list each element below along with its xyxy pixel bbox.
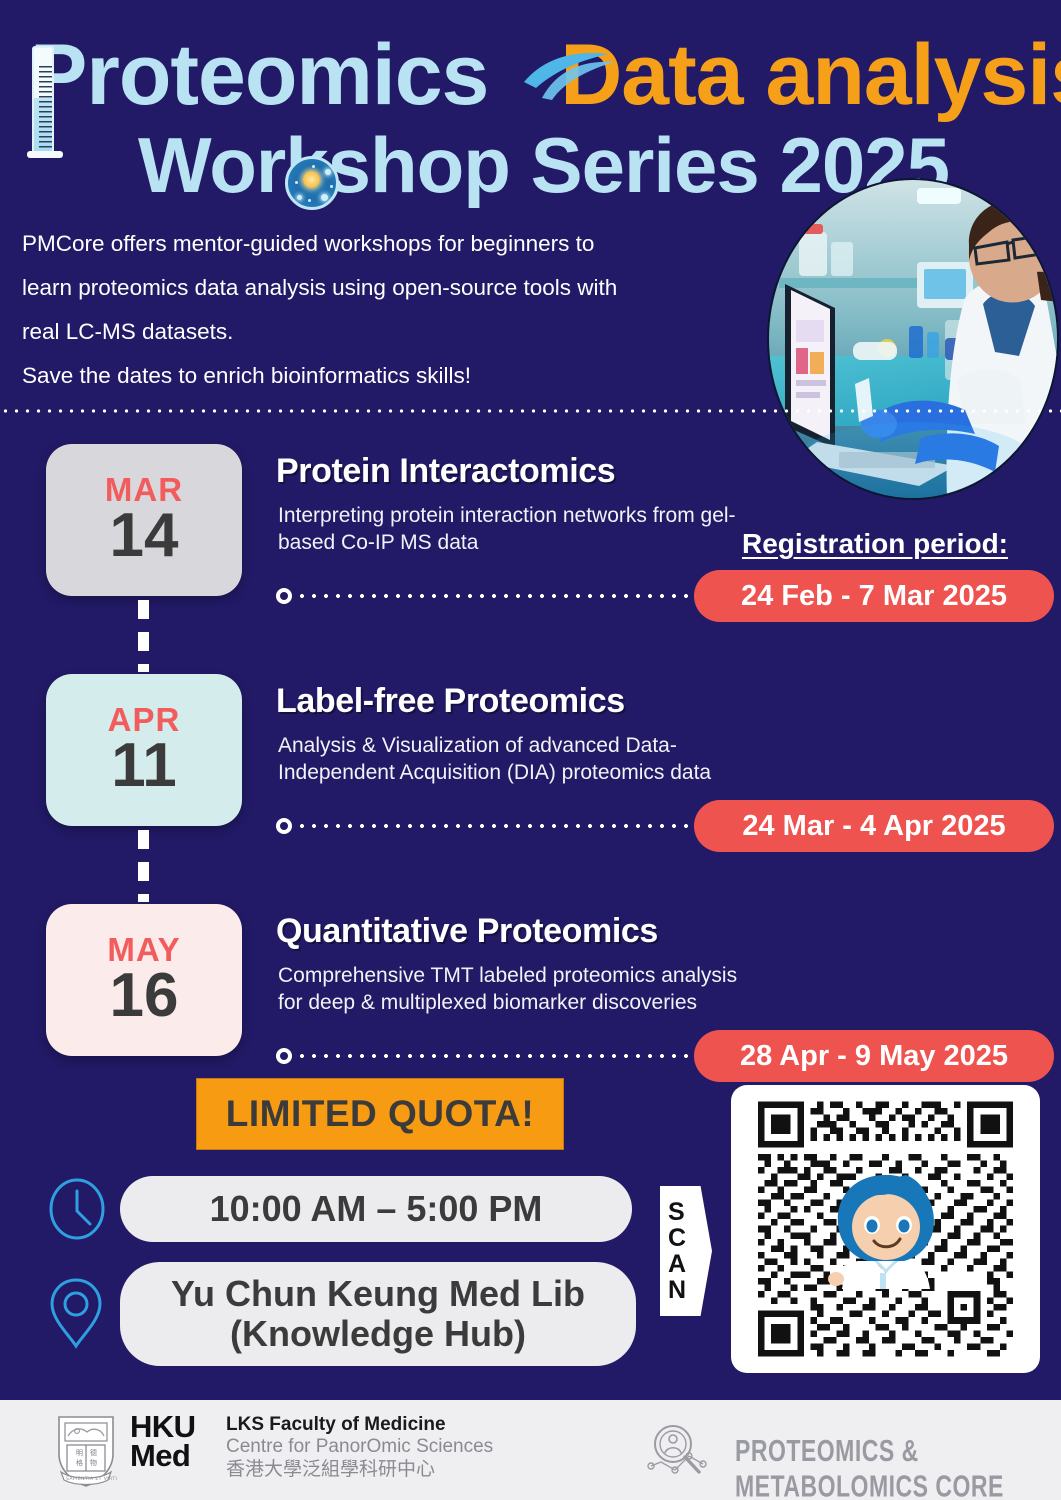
dotted-trail — [296, 823, 706, 829]
scan-arrow-label: S C A N — [660, 1186, 712, 1316]
workshop-time-pill: 10:00 AM – 5:00 PM — [120, 1176, 632, 1242]
venue-line-1: Yu Chun Keung Med Lib — [171, 1274, 585, 1314]
intro-line-2: learn proteomics data analysis using ope… — [22, 266, 764, 310]
title-proteomics-text: Proteomics — [30, 27, 488, 123]
date-card-day: 14 — [110, 505, 179, 567]
hku-med-line-2: Med — [130, 1441, 195, 1470]
svg-text:德: 德 — [90, 1448, 97, 1457]
svg-text:明: 明 — [76, 1449, 83, 1457]
scan-label-text: S C A N — [668, 1199, 690, 1304]
title-data-analysis-word: Data analysis — [560, 32, 1061, 118]
workshop-title: Label-free Proteomics — [276, 682, 625, 721]
nucleus-icon — [303, 171, 320, 188]
footer-bar: 明 德 格 物 SAPIENTIA ET VIRTUS HKU Med LKS … — [0, 1396, 1061, 1500]
registration-pill[interactable]: 24 Mar - 4 Apr 2025 — [694, 800, 1054, 852]
date-card-day: 16 — [110, 965, 179, 1027]
intro-paragraph: PMCore offers mentor-guided workshops fo… — [22, 222, 764, 398]
workshop-title: Quantitative Proteomics — [276, 912, 658, 951]
workshop-title: Protein Interactomics — [276, 452, 615, 491]
faculty-line-3: 香港大學泛組學科研中心 — [226, 1459, 493, 1481]
poster-title-block: Proteomics Data analysis Workshop Series… — [30, 8, 960, 213]
intro-line-3: real LC-MS datasets. — [22, 310, 764, 354]
timeline-node-icon — [276, 1048, 292, 1064]
registration-pill[interactable]: 28 Apr - 9 May 2025 — [694, 1030, 1054, 1082]
limited-quota-badge: LIMITED QUOTA! — [196, 1078, 564, 1150]
workshop-venue-pill: Yu Chun Keung Med Lib (Knowledge Hub) — [120, 1262, 636, 1366]
workshop-dotted-link — [276, 588, 706, 604]
title-proteomics-word: Proteomics — [30, 32, 488, 118]
svg-text:格: 格 — [76, 1458, 83, 1467]
venue-line-2: (Knowledge Hub) — [230, 1314, 526, 1354]
faculty-line-1: LKS Faculty of Medicine — [226, 1414, 493, 1436]
proteomics-core-name: PROTEOMICS & METABOLOMICS CORE — [735, 1434, 1048, 1500]
svg-text:SAPIENTIA ET VIRTUS: SAPIENTIA ET VIRTUS — [66, 1476, 117, 1482]
date-card-mar[interactable]: MAR 14 — [46, 444, 242, 596]
title-line-1: Proteomics Data analysis — [30, 32, 1061, 118]
date-card-day: 11 — [111, 735, 177, 797]
workshop-dotted-link — [276, 1048, 706, 1064]
faculty-line-2: Centre for PanorOmic Sciences — [226, 1436, 493, 1458]
title-line-2: Workshop Series 2025 — [138, 126, 949, 204]
dotted-trail — [296, 593, 706, 599]
title-workshop-series-text: Workshop Series 2025 — [138, 121, 949, 209]
hku-med-line-1: HKU — [130, 1412, 195, 1441]
qr-mascot-icon — [828, 1169, 944, 1289]
date-card-may[interactable]: MAY 16 — [46, 904, 242, 1056]
workshop-description: Comprehensive TMT labeled proteomics ana… — [278, 962, 748, 1016]
intro-line-1: PMCore offers mentor-guided workshops fo… — [22, 222, 764, 266]
timeline-node-icon — [276, 818, 292, 834]
hku-crest-icon: 明 德 格 物 SAPIENTIA ET VIRTUS — [55, 1414, 117, 1488]
section-divider — [0, 408, 1061, 414]
intro-line-4: Save the dates to enrich bioinformatics … — [22, 354, 764, 398]
poster-root: Proteomics Data analysis Workshop Series… — [0, 0, 1061, 1500]
dotted-trail — [296, 1053, 706, 1059]
date-card-apr[interactable]: APR 11 — [46, 674, 242, 826]
workshop-timeline: MAR 14 Protein Interactomics Interpretin… — [0, 430, 1061, 1120]
cylinder-ticks-icon — [39, 66, 52, 150]
cell-molecule-icon — [285, 156, 339, 210]
registration-pill[interactable]: 24 Feb - 7 Mar 2025 — [694, 570, 1054, 622]
workshop-dotted-link — [276, 818, 706, 834]
workshop-row: APR 11 Label-free Proteomics Analysis & … — [0, 660, 1061, 890]
proteomics-core-logo-icon — [645, 1422, 721, 1482]
hku-med-wordmark: HKU Med — [130, 1412, 195, 1471]
faculty-block: LKS Faculty of Medicine Centre for Panor… — [226, 1414, 493, 1481]
qr-code[interactable] — [731, 1085, 1040, 1373]
workshop-description: Analysis & Visualization of advanced Dat… — [278, 732, 748, 786]
svg-text:物: 物 — [90, 1458, 97, 1467]
clock-icon — [48, 1178, 106, 1245]
timeline-node-icon — [276, 588, 292, 604]
qr-code-matrix — [741, 1095, 1030, 1363]
workshop-description: Interpreting protein interaction network… — [278, 502, 748, 556]
location-pin-icon — [46, 1276, 106, 1355]
workshop-row: MAR 14 Protein Interactomics Interpretin… — [0, 430, 1061, 660]
title-data-analysis-text: Data analysis — [560, 27, 1061, 123]
graduated-cylinder-icon — [32, 46, 54, 154]
